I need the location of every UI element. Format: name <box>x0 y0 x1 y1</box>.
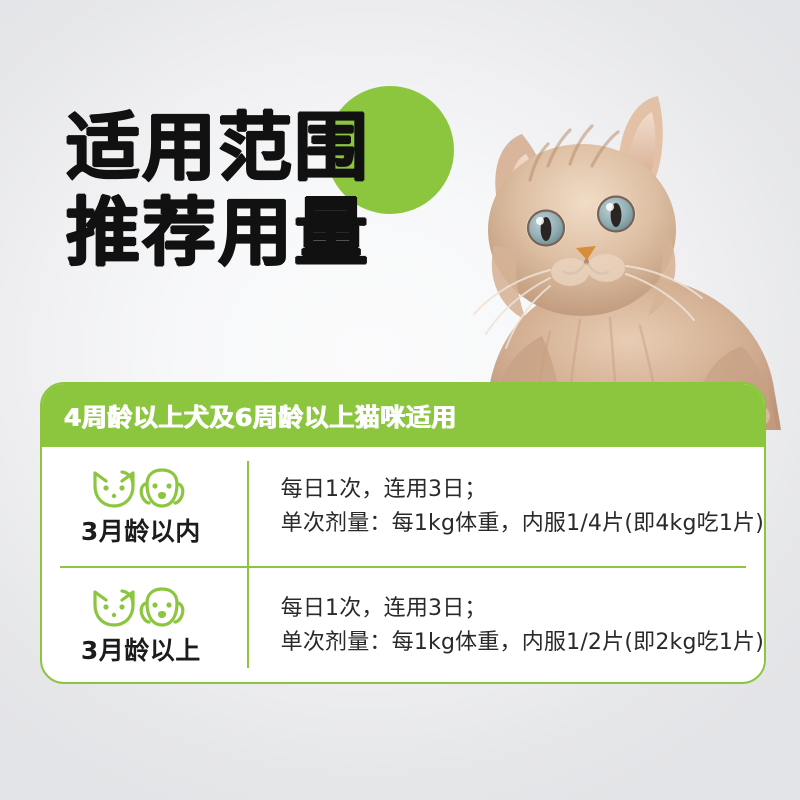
table-row: 3月龄以内 每日1次，连用3日； 单次剂量：每1kg体重，内服1/4片(即4kg… <box>42 447 764 566</box>
dosage-amount-line: 单次剂量：每1kg体重，内服1/4片(即4kg吃1片) <box>281 507 764 540</box>
dosage-card-header-title: 4周龄以上犬及6周龄以上猫咪适用 <box>64 398 457 434</box>
table-row: 3月龄以上 每日1次，连用3日； 单次剂量：每1kg体重，内服1/2片(即2kg… <box>42 566 764 684</box>
age-group-cell: 3月龄以上 <box>42 585 236 667</box>
cat-dog-icon-pair <box>89 466 193 510</box>
page-title: 适用范围 推荐用量 <box>66 112 370 269</box>
dosage-card-header: 4周龄以上犬及6周龄以上猫咪适用 <box>42 384 764 447</box>
cat-photo <box>430 70 800 430</box>
cat-dog-icon-pair <box>89 585 193 629</box>
dosage-frequency-line: 每日1次，连用3日； <box>281 473 764 506</box>
dosage-amount-line: 单次剂量：每1kg体重，内服1/2片(即2kg吃1片) <box>281 626 764 659</box>
dosage-card: 4周龄以上犬及6周龄以上猫咪适用 <box>40 382 766 684</box>
dosage-table: 3月龄以内 每日1次，连用3日； 单次剂量：每1kg体重，内服1/4片(即4kg… <box>42 447 764 682</box>
age-group-label: 3月龄以上 <box>81 631 201 667</box>
dosage-frequency-line: 每日1次，连用3日； <box>281 592 764 625</box>
age-group-label: 3月龄以内 <box>81 512 201 548</box>
dosage-detail-cell: 每日1次，连用3日； 单次剂量：每1kg体重，内服1/2片(即2kg吃1片) <box>236 592 764 659</box>
infographic-page: 适用范围 推荐用量 4周龄以上犬及6周龄以上猫咪适用 <box>0 0 800 800</box>
dosage-detail-cell: 每日1次，连用3日； 单次剂量：每1kg体重，内服1/4片(即4kg吃1片) <box>236 473 764 540</box>
headline-line-2: 推荐用量 <box>66 197 370 270</box>
age-group-cell: 3月龄以内 <box>42 466 236 548</box>
headline-line-1: 适用范围 <box>66 112 370 185</box>
